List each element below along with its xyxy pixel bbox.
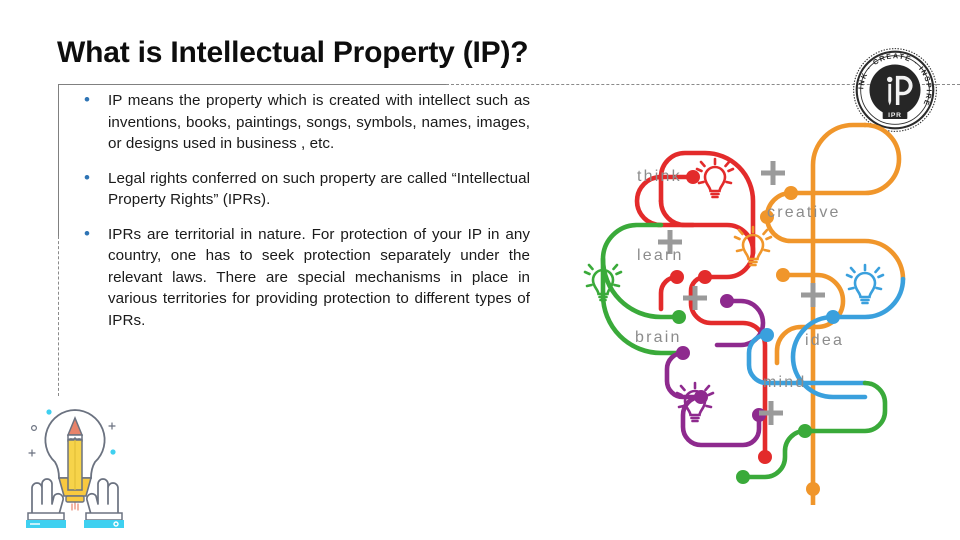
plus-icon-right-lower: [759, 401, 783, 425]
cuff-right-outline: [86, 513, 122, 520]
lightbulb-screw: [66, 496, 84, 502]
content-frame-left-solid: [58, 84, 59, 236]
brain-label-think: think: [637, 168, 682, 185]
brain-path-green-r2: [743, 431, 805, 477]
brain-label-mind: mind: [763, 374, 806, 391]
content-frame-top-solid: [58, 84, 446, 85]
bullet-marker: •: [78, 168, 108, 211]
list-item: • IP means the property which is created…: [78, 90, 530, 155]
lightbulb-icon-blue: [847, 265, 883, 303]
brain-path-green-r1: [805, 383, 885, 431]
slide-canvas: What is Intellectual Property (IP)? • IP…: [0, 0, 960, 540]
lightbulb-icon-red: [697, 159, 733, 197]
plus-icon-left-lower: [683, 286, 707, 310]
content-frame-left-dashed: [58, 236, 59, 396]
brain-illustration: think learn brain creative idea mind: [565, 95, 945, 505]
plus-icon-right-mid: [801, 283, 825, 307]
bullet-marker: •: [78, 224, 108, 332]
list-item: • Legal rights conferred on such propert…: [78, 168, 530, 211]
pencil-icon: [68, 418, 82, 490]
bullet-text: Legal rights conferred on such property …: [108, 168, 530, 211]
bullet-text: IP means the property which is created w…: [108, 90, 530, 155]
idea-bulb-hands-illustration: [8, 392, 148, 536]
bullet-marker: •: [78, 90, 108, 155]
page-title: What is Intellectual Property (IP)?: [57, 36, 528, 70]
cuff-left-outline: [28, 513, 64, 520]
plus-icon-right-upper: [761, 161, 785, 185]
list-item: • IPRs are territorial in nature. For pr…: [78, 224, 530, 332]
brain-path-orange-1: [791, 125, 899, 193]
brain-label-idea: idea: [805, 332, 844, 349]
bullet-text: IPRs are territorial in nature. For prot…: [108, 224, 530, 332]
bullet-list: • IP means the property which is created…: [78, 90, 530, 344]
brain-label-learn: learn: [637, 247, 684, 264]
brain-label-creative: creative: [767, 204, 841, 221]
brain-label-brain: brain: [635, 329, 682, 346]
